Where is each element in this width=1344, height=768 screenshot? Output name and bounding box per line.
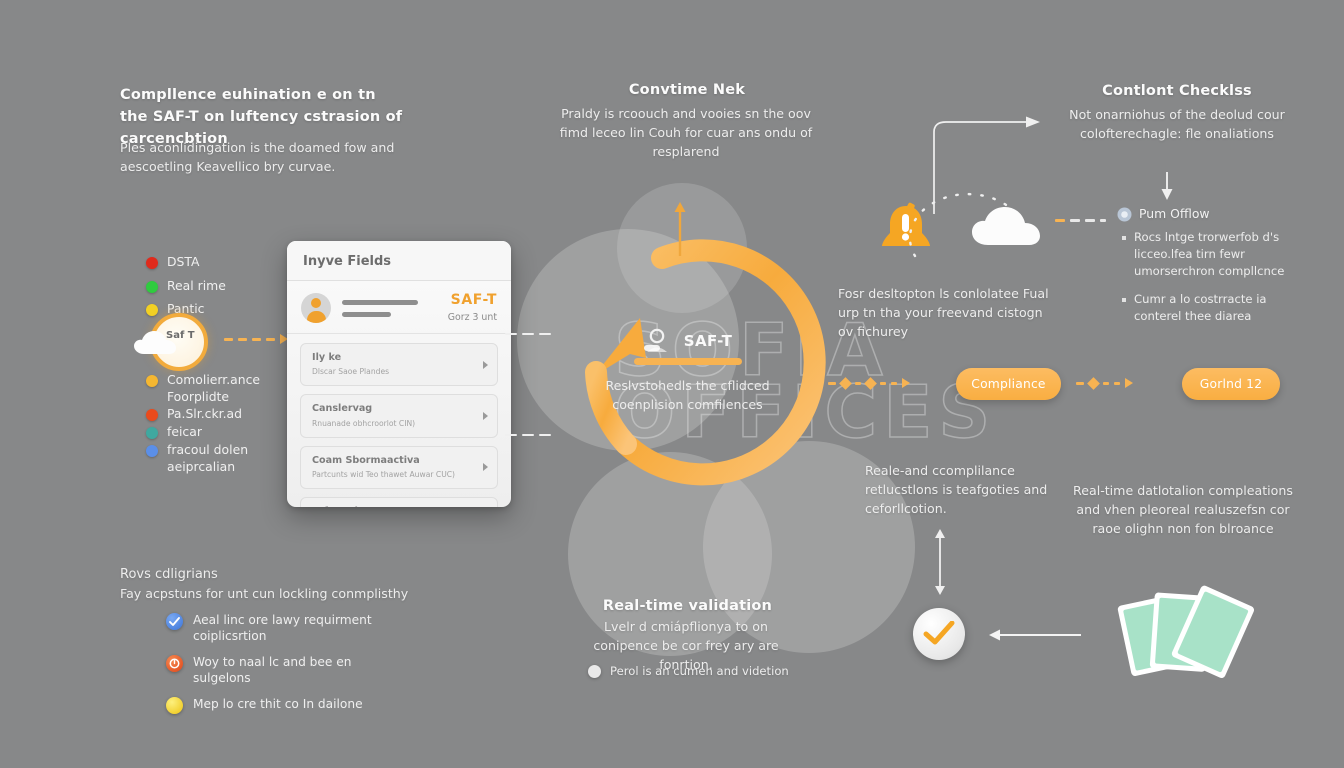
- left-arrow-to-badge: [985, 627, 1083, 643]
- down-arrow-icon: [1159, 172, 1175, 202]
- bottom-right-body: Real-time datlotalion compleations and v…: [1068, 481, 1298, 538]
- legend-dot-icon: [146, 375, 158, 387]
- pill-compliance[interactable]: Compliance: [956, 368, 1061, 400]
- bullet-text: Rocs lntge trorwerfob d's licceo.lfea ti…: [1134, 229, 1307, 279]
- pure-offline-bullets: Rocs lntge trorwerfob d's licceo.lfea ti…: [1122, 229, 1307, 330]
- top-right-body: Not onarniohus of the deolud cour coloft…: [1052, 105, 1302, 143]
- legend-bottom: Comolierr.ance Foorplidte Pa.Slr.ckr.ad …: [146, 372, 271, 476]
- flow-dashes-1: [828, 378, 910, 388]
- legend-dot-icon: [146, 257, 158, 269]
- check-circle-icon: [166, 613, 183, 630]
- list-item: Woy to naal lc and bee en sulgelons: [166, 654, 396, 687]
- saft-badge-sub: Gorz 3 unt: [448, 312, 497, 323]
- panel-identity-row: SAF-T Gorz 3 unt: [287, 281, 511, 334]
- watermark-line-2: OFFICES: [614, 378, 996, 447]
- legend-item: Pa.Slr.ckr.ad: [146, 406, 271, 423]
- row-subtitle: Dlscar Saoe Plandes: [312, 367, 473, 377]
- cloud-to-panel-dashes: [224, 334, 288, 344]
- dotted-arc-path: [905, 178, 1035, 268]
- top-center-body: Praldy is rcoouch and vooies sn the oov …: [556, 104, 816, 161]
- top-right-heading: Contlont Checklss: [1062, 83, 1292, 99]
- footnote-text: Perol is an cumen and videtion: [610, 663, 789, 681]
- panel-out-dashes-top: [505, 333, 556, 335]
- bottom-left-heading: Rovs cdligrians: [120, 565, 420, 585]
- row-subtitle: Partcunts wid Teo thawet Auwar CUC): [312, 470, 473, 480]
- legend-item: Real rime: [146, 278, 226, 295]
- bullet-square-icon: [1122, 298, 1126, 302]
- legend-dot-icon: [146, 409, 158, 421]
- saft-badge-title: SAF-T: [448, 293, 497, 308]
- legend-dot-icon: [146, 427, 158, 439]
- diamond-icon: [1087, 377, 1100, 390]
- cloud-to-offline-dashes: [1055, 219, 1111, 222]
- list-item: Aeal linc ore lawy requirment coiplicsrt…: [166, 612, 396, 645]
- legend-label: Pa.Slr.ckr.ad: [167, 406, 242, 423]
- row-subtitle: Rnuanade obhcroorlot CIN): [312, 419, 473, 429]
- stacked-documents-icon: [1108, 580, 1256, 690]
- row-title: Canslervag: [312, 403, 473, 415]
- dot-circle-icon: [166, 697, 183, 714]
- bottom-left-subheading: Fay acpstuns for unt cun lockling conmpl…: [120, 584, 420, 603]
- panel-title: Inyve Fields: [287, 241, 511, 281]
- bg-circle-1: [517, 229, 739, 451]
- bottom-center-footnote: Perol is an cumen and videtion: [588, 663, 803, 681]
- panel-out-dashes-bottom: [505, 434, 556, 436]
- person-chip-icon: [643, 328, 677, 354]
- right-mid-body: Fosr desltopton ls conlolatee Fual urp t…: [838, 284, 1053, 341]
- legend-label: fracoul dolen aeiprcalian: [167, 442, 271, 475]
- legend-item: feicar: [146, 424, 271, 441]
- vertical-double-arrow-icon: [932, 528, 948, 596]
- saft-badge: SAF-T Gorz 3 unt: [448, 293, 497, 322]
- pure-offline-header: Pum Offlow: [1117, 205, 1210, 224]
- pill-label: Compliance: [971, 377, 1045, 391]
- top-center-heading: Convtime Nek: [562, 82, 812, 98]
- list-item: Cumr a lo costrracte ia conterel thee di…: [1122, 291, 1307, 325]
- list-item: Mep lo cre thit co In dailone: [166, 696, 396, 714]
- legend-label: Real rime: [167, 278, 226, 295]
- compliance-cycle-ring: [534, 186, 874, 546]
- table-row[interactable]: Ily ke Dlscar Saoe Plandes: [300, 343, 498, 386]
- chevron-right-icon: [483, 412, 488, 420]
- legend-label: DSTA: [167, 254, 200, 271]
- table-row[interactable]: Coam Sbormaactiva Partcunts wid Teo thaw…: [300, 446, 498, 489]
- pure-offline-heading: Pum Offlow: [1139, 205, 1210, 224]
- legend-dot-icon: [146, 281, 158, 293]
- bullet-square-icon: [1122, 236, 1126, 240]
- table-row[interactable]: Prfomad Emaphbarsark Pnobucty: [300, 497, 498, 507]
- legend-label: feicar: [167, 424, 202, 441]
- pill-control[interactable]: Gorlnd 12: [1182, 368, 1280, 400]
- diamond-icon: [864, 377, 877, 390]
- pill-label: Gorlnd 12: [1200, 377, 1262, 391]
- row-title: Ily ke: [312, 352, 473, 364]
- diamond-icon: [839, 377, 852, 390]
- chevron-right-icon: [483, 361, 488, 369]
- infographic-canvas: SOFIA OFFICES SAF-T: [0, 0, 1344, 768]
- list-item: Rocs lntge trorwerfob d's licceo.lfea ti…: [1122, 229, 1307, 279]
- core-saft-text: SAF-T: [684, 332, 732, 350]
- legend-item: DSTA: [146, 254, 226, 271]
- legend-item: Comolierr.ance Foorplidte: [146, 372, 271, 405]
- core-saft-label: SAF-T Reslvstohedls the cflidced coenpli…: [575, 328, 800, 415]
- core-caption: Reslvstohedls the cflidced coenplision c…: [575, 377, 800, 415]
- placeholder-bar: [342, 300, 418, 305]
- checkmark-glyph: [923, 621, 955, 647]
- checkmark-badge-icon: [913, 608, 965, 660]
- checklist-label: Mep lo cre thit co In dailone: [193, 696, 363, 712]
- bullet-text: Cumr a lo costrracte ia conterel thee di…: [1134, 291, 1307, 325]
- checklist-label: Woy to naal lc and bee en sulgelons: [193, 654, 396, 687]
- legend-dot-icon: [146, 304, 158, 316]
- legend-dot-icon: [146, 445, 158, 457]
- row-title: Coam Sbormaactiva: [312, 455, 473, 467]
- panel-row-list: Ily ke Dlscar Saoe Plandes Canslervag Rn…: [287, 334, 511, 507]
- top-left-body: Ples aconlidingation is the doamed fow a…: [120, 138, 410, 176]
- avatar: [301, 293, 331, 323]
- bottom-center-heading: Real-time validation: [590, 598, 785, 614]
- fields-panel[interactable]: Inyve Fields SAF-T Gorz 3 unt Ily ke Dls…: [287, 241, 511, 507]
- table-row[interactable]: Canslervag Rnuanade obhcroorlot CIN): [300, 394, 498, 437]
- bottom-left-checklist: Aeal linc ore lawy requirment coiplicsrt…: [166, 612, 396, 723]
- clock-circle-icon: [166, 655, 183, 672]
- checklist-label: Aeal linc ore lawy requirment coiplicsrt…: [193, 612, 396, 645]
- row-title: Prfomad: [312, 506, 473, 507]
- flow-dashes-2: [1076, 378, 1133, 388]
- placeholder-bar: [342, 312, 391, 317]
- mid-right-body: Reale-and ccomplilance retlucstlons is t…: [865, 461, 1055, 518]
- up-arrow-icon: [672, 200, 688, 258]
- bullet-dot-icon: [588, 665, 601, 678]
- arrow-head-icon: [902, 378, 910, 388]
- identity-placeholder-bars: [342, 300, 437, 317]
- legend-label: Comolierr.ance Foorplidte: [167, 372, 271, 405]
- arrow-head-icon: [1125, 378, 1133, 388]
- offline-globe-icon: [1117, 207, 1132, 222]
- chevron-right-icon: [483, 463, 488, 471]
- legend-item: fracoul dolen aeiprcalian: [146, 442, 271, 475]
- saft-cloud-label: Saf T: [166, 330, 195, 341]
- core-saft-underline: [634, 358, 742, 365]
